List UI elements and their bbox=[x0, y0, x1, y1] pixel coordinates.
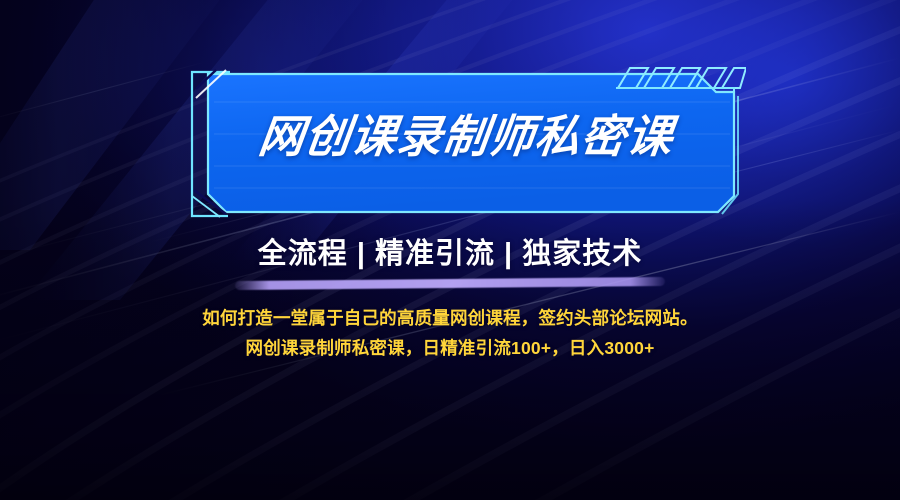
body-copy-block: 如何打造一堂属于自己的高质量网创课程，签约头部论坛网站。 网创课录制师私密课，日… bbox=[0, 303, 900, 363]
banner-title: 网创课录制师私密课 bbox=[183, 114, 749, 159]
title-banner: 网创课录制师私密课 bbox=[186, 62, 746, 224]
subtitle-block: 全流程 | 精准引流 | 独家技术 bbox=[0, 240, 900, 269]
body-line-1: 如何打造一堂属于自己的高质量网创课程，签约头部论坛网站。 bbox=[0, 303, 900, 333]
promo-poster: 网创课录制师私密课 全流程 | 精准引流 | 独家技术 如何打造一堂属于自己的高… bbox=[0, 0, 900, 500]
subtitle-text: 全流程 | 精准引流 | 独家技术 bbox=[0, 240, 900, 269]
body-line-2: 网创课录制师私密课，日精准引流100+，日入3000+ bbox=[0, 333, 900, 363]
